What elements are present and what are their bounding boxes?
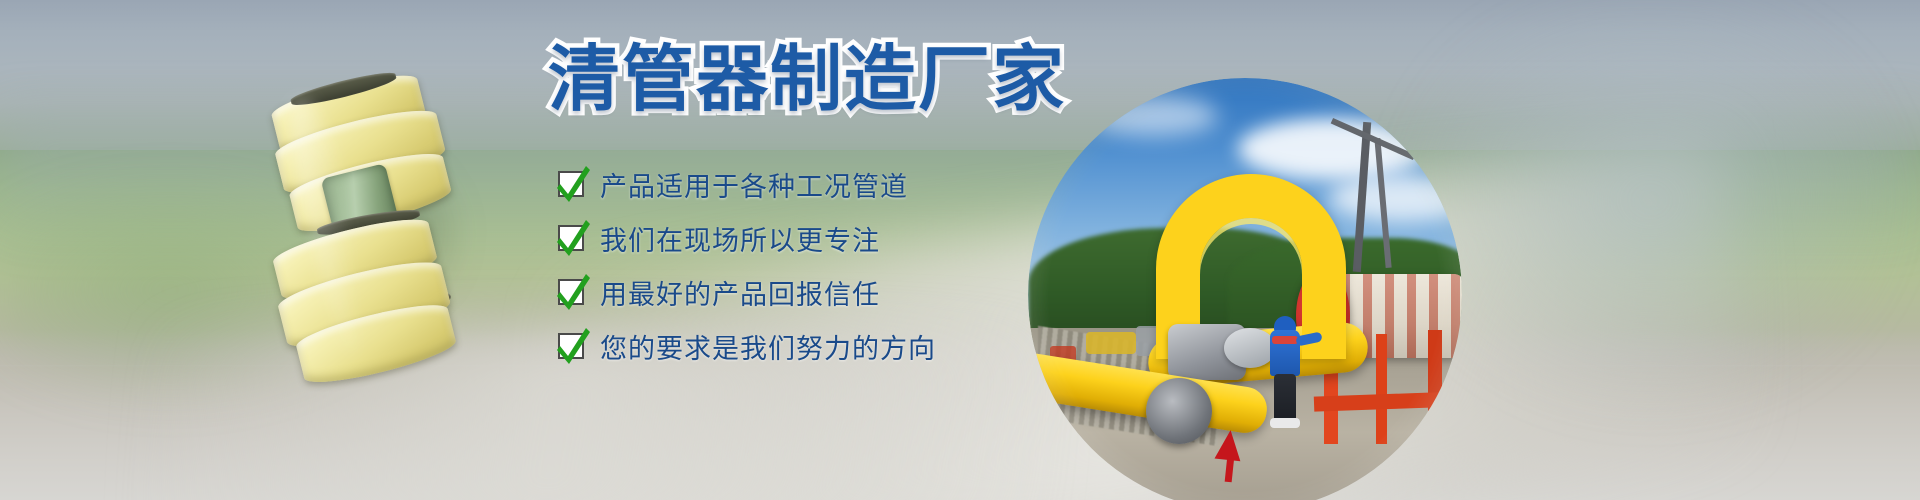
feature-label: 我们在现场所以更专注: [600, 219, 880, 258]
photo-valve-wheel: [1224, 328, 1276, 368]
feature-label: 产品适用于各种工况管道: [600, 165, 908, 204]
check-mark-icon: [558, 279, 584, 305]
feature-list: 产品适用于各种工况管道 我们在现场所以更专注 用最好的产品回报信任: [558, 160, 1028, 376]
banner-title: 清管器制造厂家: [548, 44, 1066, 116]
feature-item: 我们在现场所以更专注: [558, 214, 1028, 262]
check-mark-icon: [558, 171, 584, 197]
photo-cloud: [1088, 96, 1218, 136]
feature-item: 用最好的产品回报信任: [558, 268, 1028, 316]
check-mark-icon: [558, 225, 584, 251]
photo-launcher-frame: [1376, 334, 1387, 444]
check-mark-icon: [558, 333, 584, 359]
photo-worker-vest: [1272, 336, 1298, 344]
photo-launcher-frame: [1428, 330, 1442, 442]
gas-pipeline-site-photo: [1028, 78, 1462, 500]
photo-worker-legs: [1274, 374, 1296, 422]
feature-label: 用最好的产品回报信任: [600, 273, 880, 312]
feature-item: 您的要求是我们努力的方向: [558, 322, 1028, 370]
promo-banner: 清管器制造厂家 产品适用于各种工况管道 我们在现场所以更专注: [0, 0, 1920, 500]
photo-pipe-flange: [1146, 378, 1212, 444]
feature-label: 您的要求是我们努力的方向: [600, 327, 936, 366]
photo-background-equipment: [1086, 332, 1136, 354]
feature-item: 产品适用于各种工况管道: [558, 160, 1028, 208]
photo-worker-shoes: [1270, 418, 1300, 428]
